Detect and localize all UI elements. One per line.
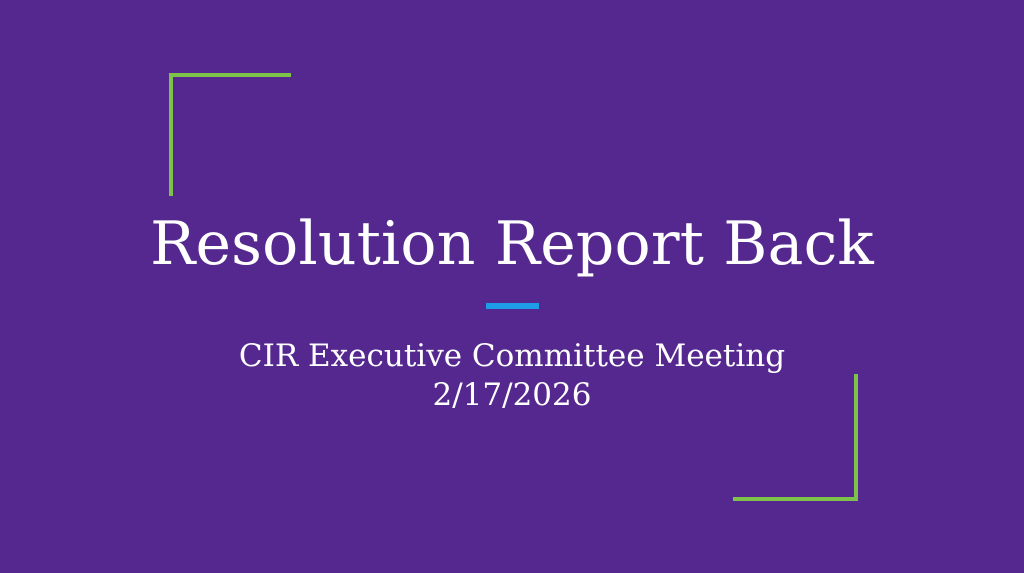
- slide-subtitle-line-date: 2/17/2026: [239, 376, 785, 416]
- slide-subtitle: CIR Executive Committee Meeting 2/17/202…: [239, 337, 785, 416]
- slide-title: Resolution Report Back: [150, 213, 874, 277]
- divider-bar: [486, 303, 539, 309]
- presentation-title-slide: Resolution Report Back CIR Executive Com…: [0, 0, 1024, 573]
- title-text-block: Resolution Report Back CIR Executive Com…: [0, 0, 1024, 573]
- slide-subtitle-line-meeting: CIR Executive Committee Meeting: [239, 337, 785, 377]
